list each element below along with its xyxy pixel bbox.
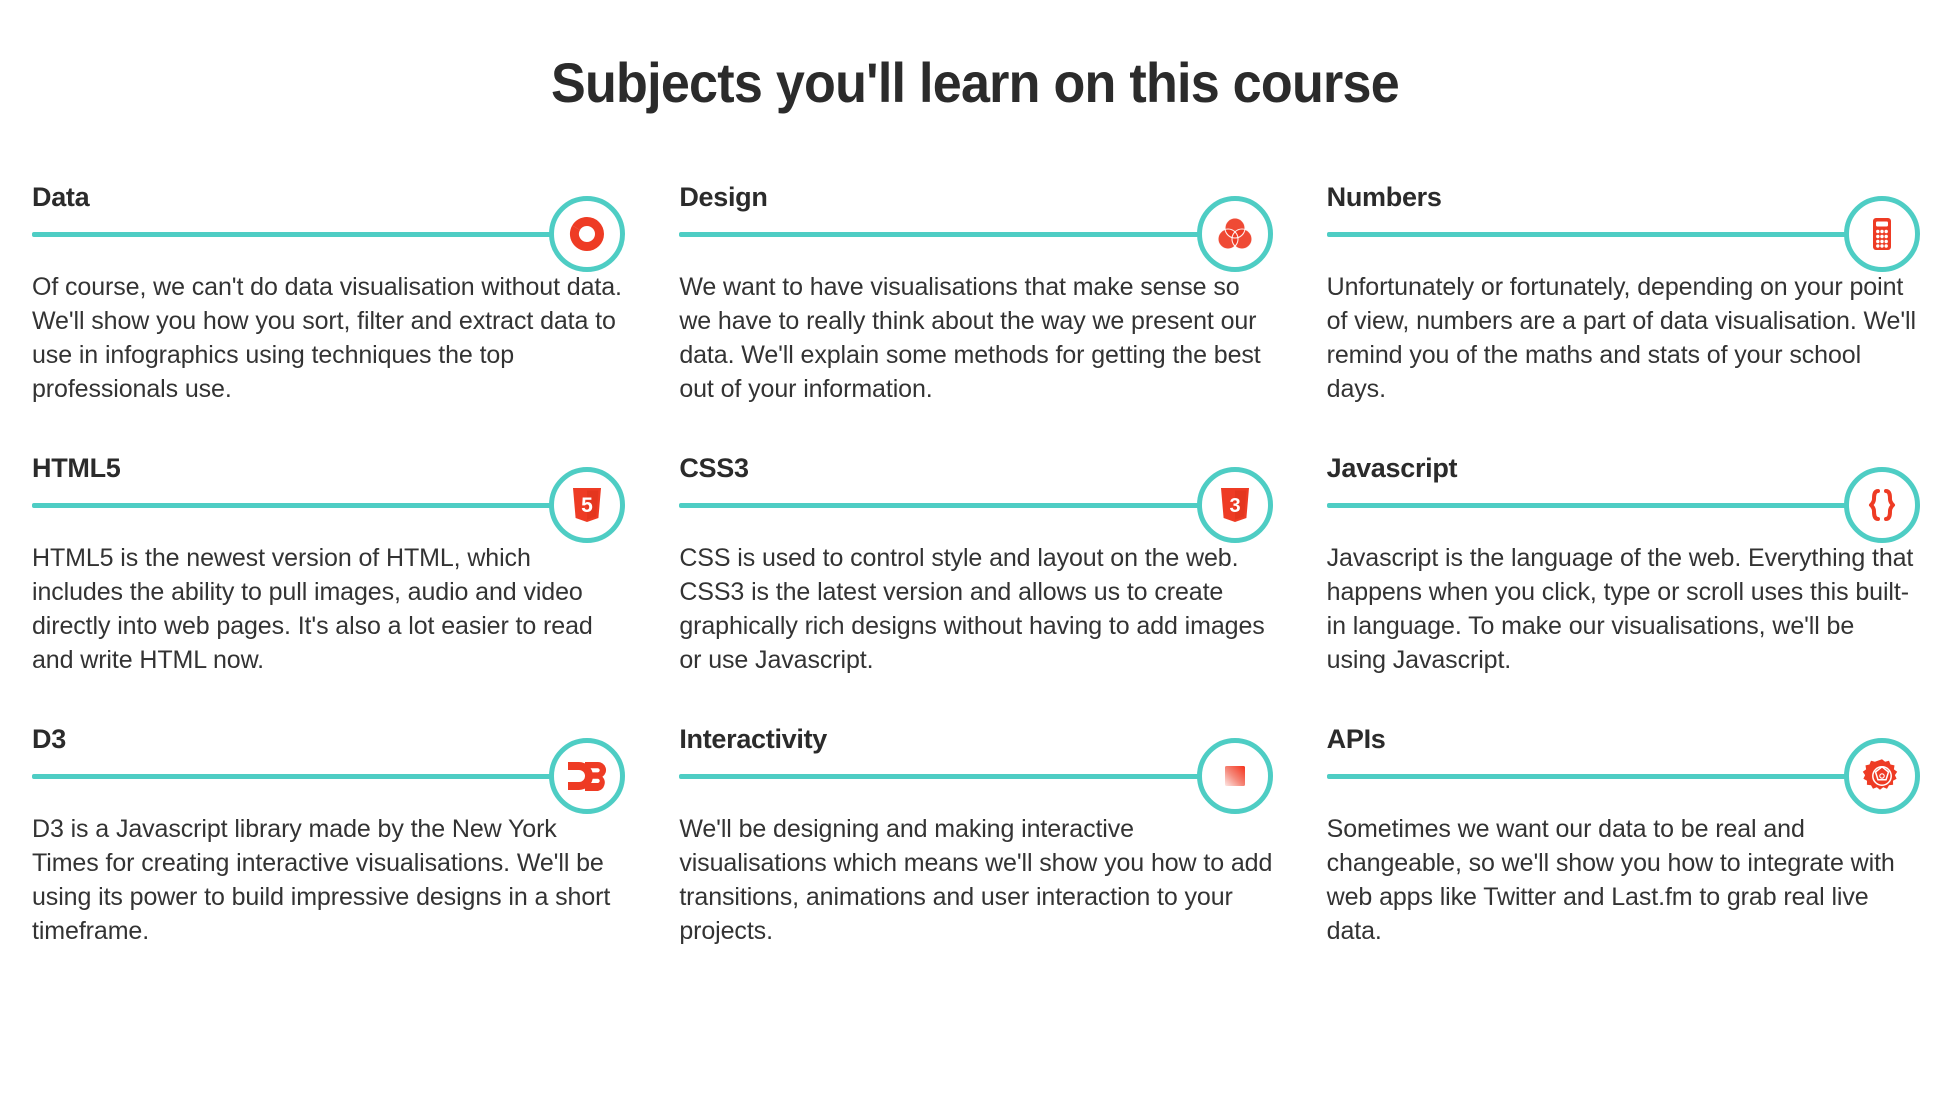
card-rule-wrap	[1327, 503, 1920, 508]
card-title: HTML5	[32, 441, 625, 482]
card-title: Javascript	[1327, 441, 1920, 482]
card-header: CSS3 3	[679, 441, 1272, 537]
card-divider-line	[32, 503, 591, 508]
d3-logo-icon	[565, 758, 609, 794]
card-title: Interactivity	[679, 712, 1272, 753]
card-header: Interactivity	[679, 712, 1272, 808]
subjects-page: Subjects you'll learn on this course Dat…	[0, 0, 1950, 1102]
card-header: HTML5 5	[32, 441, 625, 537]
card-rule-wrap	[1327, 232, 1920, 237]
card-body: We'll be designing and making interactiv…	[679, 808, 1272, 949]
card-header: Javascript	[1327, 441, 1920, 537]
icon-badge	[549, 738, 625, 814]
card-title: Numbers	[1327, 170, 1920, 211]
card-rule-wrap	[679, 774, 1272, 779]
card-title: APIs	[1327, 712, 1920, 753]
card-divider-line	[1327, 774, 1886, 779]
curly-braces-icon	[1861, 485, 1903, 525]
card-header: Numbers	[1327, 170, 1920, 266]
calculator-icon	[1862, 214, 1902, 254]
svg-text:3: 3	[1229, 495, 1240, 517]
card-body: Sometimes we want our data to be real an…	[1327, 808, 1920, 949]
card-rule-wrap	[679, 232, 1272, 237]
card-rule-wrap	[1327, 774, 1920, 779]
card-body: Unfortunately or fortunately, depending …	[1327, 266, 1920, 407]
card-header: D3	[32, 712, 625, 808]
card-rule-wrap	[32, 232, 625, 237]
card-body: We want to have visualisations that make…	[679, 266, 1272, 407]
donut-chart-icon	[567, 214, 607, 254]
svg-text:5: 5	[581, 494, 593, 517]
card-divider-line	[679, 774, 1238, 779]
page-title: Subjects you'll learn on this course	[68, 0, 1882, 114]
card-body: HTML5 is the newest version of HTML, whi…	[32, 537, 625, 678]
card-divider-line	[679, 232, 1238, 237]
subject-card-d3: D3 D3 is	[32, 688, 625, 959]
card-title: Design	[679, 170, 1272, 211]
icon-badge	[1197, 196, 1273, 272]
card-rule-wrap: 5	[32, 503, 625, 508]
card-rule-wrap: 3	[679, 503, 1272, 508]
subject-card-design: Design	[679, 170, 1272, 417]
card-title: D3	[32, 712, 625, 753]
card-divider-line	[32, 232, 591, 237]
card-rule-wrap	[32, 774, 625, 779]
gear-cog-icon	[1862, 756, 1902, 796]
icon-badge: 3	[1197, 467, 1273, 543]
motion-square-icon	[1215, 756, 1255, 796]
card-title: CSS3	[679, 441, 1272, 482]
card-body: CSS is used to control style and layout …	[679, 537, 1272, 678]
card-divider-line	[1327, 503, 1886, 508]
card-divider-line	[679, 503, 1238, 508]
card-body: Of course, we can't do data visualisatio…	[32, 266, 625, 407]
css3-shield-icon: 3	[1217, 485, 1253, 525]
icon-badge	[1844, 738, 1920, 814]
card-header: APIs	[1327, 712, 1920, 808]
card-divider-line	[32, 774, 591, 779]
card-body: Javascript is the language of the web. E…	[1327, 537, 1920, 678]
color-wheel-venn-icon	[1215, 214, 1255, 254]
card-body: D3 is a Javascript library made by the N…	[32, 808, 625, 949]
card-divider-line	[1327, 232, 1886, 237]
subjects-grid: Data	[0, 170, 1950, 959]
subject-card-css3: CSS3 3 CSS is used to control	[679, 417, 1272, 688]
card-title: Data	[32, 170, 625, 211]
subject-card-javascript: Javascript	[1327, 417, 1920, 688]
html5-shield-icon: 5	[569, 485, 605, 525]
subject-card-data: Data	[32, 170, 625, 417]
icon-badge	[549, 196, 625, 272]
subject-card-interactivity: Interactivity	[679, 688, 1272, 959]
card-header: Data	[32, 170, 625, 266]
subject-card-html5: HTML5 5 HTML5 is the newest ve	[32, 417, 625, 688]
icon-badge	[1197, 738, 1273, 814]
subject-card-apis: APIs	[1327, 688, 1920, 959]
icon-badge: 5	[549, 467, 625, 543]
card-header: Design	[679, 170, 1272, 266]
icon-badge	[1844, 196, 1920, 272]
subject-card-numbers: Numbers	[1327, 170, 1920, 417]
icon-badge	[1844, 467, 1920, 543]
